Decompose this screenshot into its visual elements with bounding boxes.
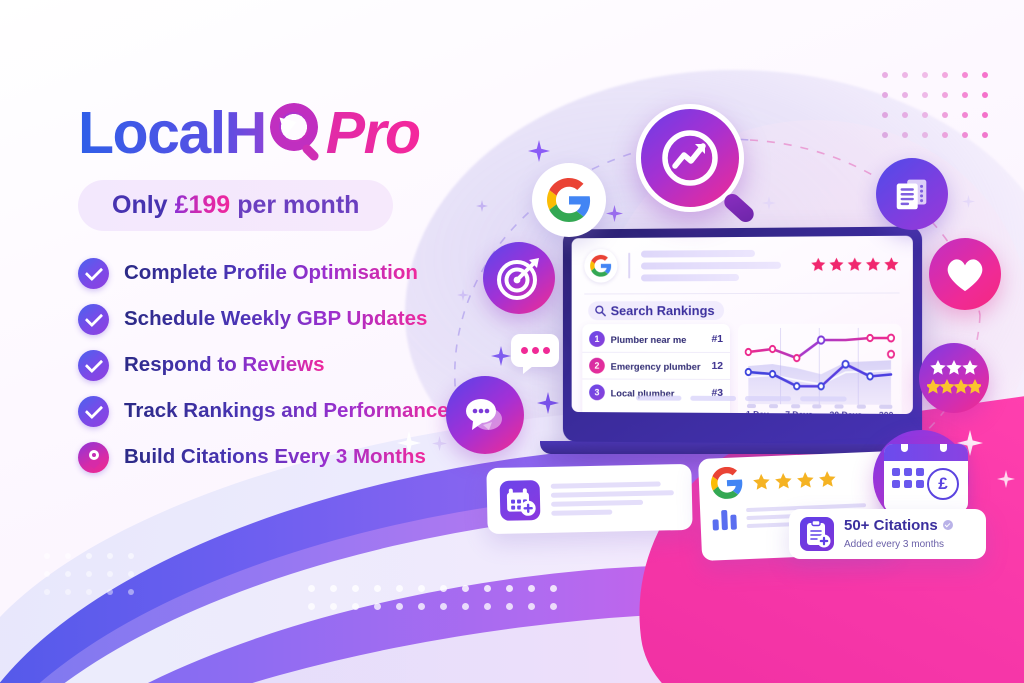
- star-icon: [810, 256, 826, 272]
- ranking-position: 12: [711, 360, 723, 372]
- brand-logo-h: H: [225, 104, 266, 163]
- star-icon: [817, 469, 837, 489]
- search-trending-icon: [636, 104, 744, 212]
- ranking-row[interactable]: 1 Plumber near me #1: [582, 326, 730, 353]
- ranking-row[interactable]: 2 Emergency plumber 12: [582, 353, 730, 380]
- star-icon: [847, 256, 863, 272]
- feature-list: Complete Profile Optimisation Schedule W…: [78, 257, 478, 473]
- brand-logo-local: Local: [78, 104, 225, 163]
- chart-x-labels: 1 Day 7 Days 30 Days 300: [743, 408, 897, 414]
- check-circle-icon: [78, 304, 109, 335]
- citations-card[interactable]: 50+ Citations Added every 3 months: [789, 509, 986, 559]
- laptop-taskbar: [580, 389, 903, 408]
- search-rankings-heading: Search Rankings: [572, 293, 913, 324]
- target-dart-icon: [483, 242, 555, 314]
- verified-check-icon: [943, 520, 953, 530]
- feature-label: Respond to Reviews: [124, 353, 325, 377]
- star-icon: [865, 256, 881, 272]
- documents-icon: [876, 158, 948, 230]
- bubble-dot: [543, 347, 550, 354]
- bubble-dot: [521, 347, 528, 354]
- heart-icon: [929, 238, 1001, 310]
- check-circle-icon: [78, 396, 109, 427]
- sparkle-icon: [606, 205, 623, 222]
- sparkle-icon: [537, 392, 559, 414]
- citations-title: 50+ Citations: [844, 517, 953, 534]
- feature-label: Schedule Weekly GBP Updates: [124, 307, 427, 331]
- search-icon: [594, 304, 607, 317]
- star-icon: [752, 472, 772, 492]
- star-icon: [796, 470, 816, 490]
- panel-title: Search Rankings: [611, 303, 715, 318]
- laptop-mockup: Search Rankings 1 Plumber near me #1 2: [563, 226, 922, 444]
- feature-item: Schedule Weekly GBP Updates: [78, 303, 478, 335]
- calendar-card[interactable]: [486, 464, 692, 534]
- chart-x-label: 1 Day: [746, 409, 769, 414]
- star-icon: [883, 256, 899, 272]
- check-circle-icon: [78, 258, 109, 289]
- laptop-screen: Search Rankings 1 Plumber near me #1 2: [572, 236, 913, 414]
- feature-label: Complete Profile Optimisation: [124, 261, 418, 285]
- header-divider: [628, 253, 630, 279]
- feature-item: Complete Profile Optimisation: [78, 257, 478, 289]
- star-icon: [828, 256, 844, 272]
- star-rating-icon: [919, 343, 989, 413]
- calendar-card-placeholder-lines: [551, 481, 680, 516]
- hero-copy: LocalHPro Only £199 per month Complete P…: [78, 95, 478, 487]
- check-circle-icon: [78, 350, 109, 381]
- rating-stars: [810, 256, 899, 273]
- google-g-icon: [532, 163, 606, 237]
- price-prefix: Only: [112, 191, 168, 220]
- typing-bubble: [511, 334, 559, 367]
- sparkle-icon: [528, 140, 550, 162]
- calendar-plus-icon: [500, 480, 541, 521]
- sparkle-icon: [962, 195, 975, 208]
- brand-logo-pro: Pro: [326, 104, 420, 163]
- calendar-pound-icon: £: [884, 444, 968, 512]
- pound-symbol: £: [927, 468, 959, 500]
- google-g-icon: [710, 466, 743, 499]
- dot-grid-bottom-mid: [308, 585, 572, 621]
- feature-label: Track Rankings and Performance: [124, 399, 449, 423]
- ranking-position: #1: [711, 333, 723, 345]
- google-g-icon: [584, 249, 617, 283]
- ranking-keyword: Emergency plumber: [611, 362, 701, 373]
- feature-label: Build Citations Every 3 Months: [124, 445, 426, 469]
- feature-item: Track Rankings and Performance: [78, 395, 478, 427]
- rank-badge: 2: [589, 358, 605, 374]
- profile-placeholder-lines: [641, 249, 800, 281]
- dot-grid-bottom-left: [44, 553, 149, 607]
- location-pin-icon: [78, 442, 109, 473]
- star-icon: [774, 471, 794, 491]
- calendar-day-dots: [892, 468, 924, 488]
- bar-chart-icon: [712, 508, 737, 531]
- ranking-keyword: Plumber near me: [611, 335, 687, 346]
- feature-item: Respond to Reviews: [78, 349, 478, 381]
- price-badge: Only £199 per month: [78, 180, 393, 231]
- chat-bubbles-icon: [446, 376, 524, 454]
- sparkle-icon: [491, 346, 511, 366]
- rank-badge: 1: [589, 331, 605, 347]
- chart-x-label: 300: [879, 410, 893, 414]
- chart-x-label: 30 Days: [830, 410, 863, 415]
- brand-logo: LocalHPro: [78, 95, 478, 163]
- chart-x-label: 7 Days: [785, 409, 813, 414]
- price-suffix: per month: [237, 191, 359, 220]
- citations-subtitle: Added every 3 months: [844, 539, 944, 550]
- bubble-dot: [532, 347, 539, 354]
- brand-logo-magnifier-pin-icon: [267, 101, 323, 159]
- clipboard-plus-icon: [800, 517, 834, 551]
- sparkle-icon: [997, 470, 1015, 488]
- profile-header: [572, 236, 913, 292]
- poster-canvas: LocalHPro Only £199 per month Complete P…: [0, 0, 1024, 683]
- review-stars: [752, 469, 838, 492]
- price-amount: £199: [175, 191, 231, 220]
- sparkle-icon: [762, 196, 776, 210]
- feature-item: Build Citations Every 3 Months: [78, 441, 478, 473]
